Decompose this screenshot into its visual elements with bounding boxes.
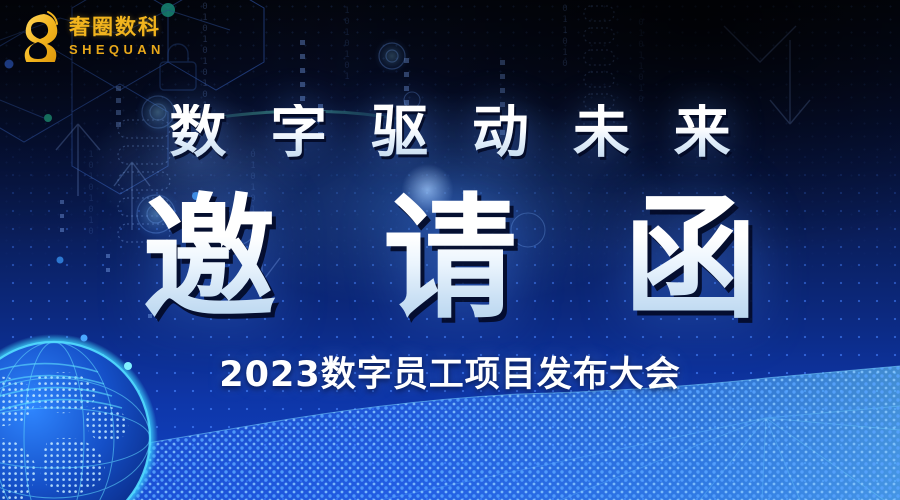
- brand-name-en: SHEQUAN: [69, 43, 165, 56]
- poster-content: 数 字 驱 动 未 来 邀 请 函 2023数字员工项目发布大会: [0, 0, 900, 500]
- brand-logo[interactable]: 奢圈数科 SHEQUAN: [14, 10, 165, 62]
- logo-mark-icon: [14, 10, 62, 62]
- logo-text-block: 奢圈数科 SHEQUAN: [69, 17, 165, 56]
- main-title: 邀 请 函: [0, 188, 900, 330]
- event-subtitle: 2023数字员工项目发布大会: [0, 358, 900, 393]
- invitation-poster: 01010101010 0101010101 10101010 011010 1…: [0, 0, 900, 500]
- headline-slogan: 数 字 驱 动 未 来: [0, 104, 900, 161]
- brand-name-cn: 奢圈数科: [69, 17, 165, 38]
